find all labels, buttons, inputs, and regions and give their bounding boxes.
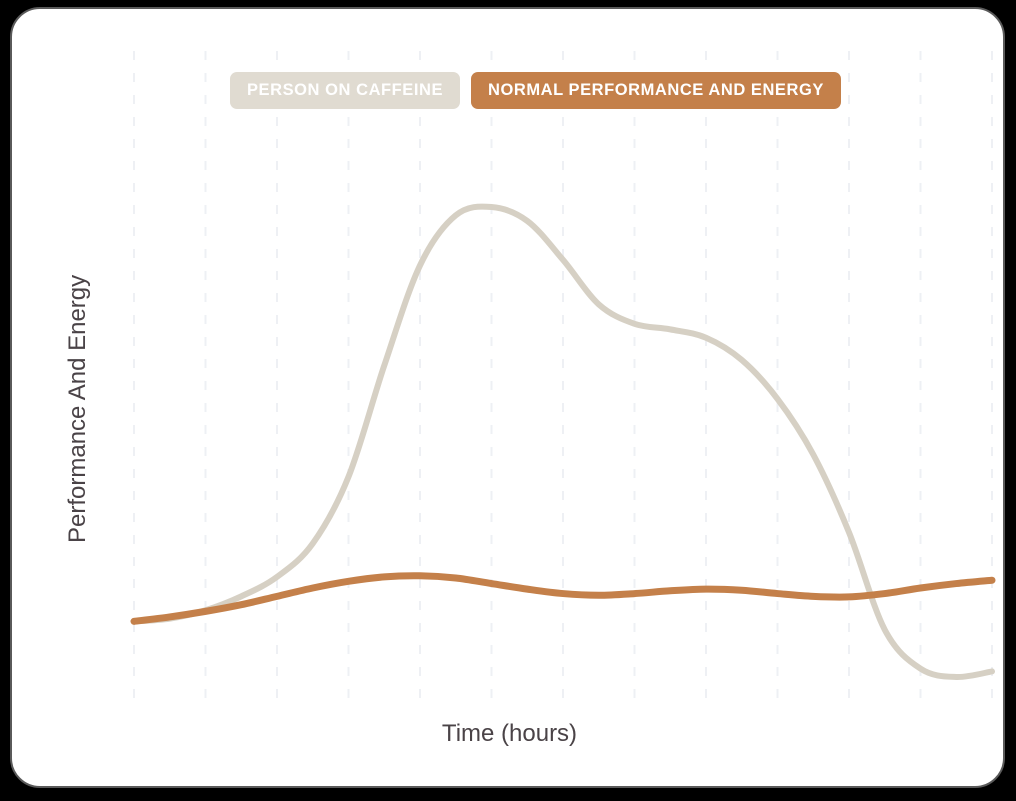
legend-item-label: PERSON ON CAFFEINE: [247, 81, 443, 100]
chart-gridlines: [134, 51, 992, 709]
chart-plot-area: [12, 9, 1003, 786]
legend-item-person-on-caffeine[interactable]: PERSON ON CAFFEINE: [230, 72, 460, 109]
x-axis-label: Time (hours): [12, 720, 1005, 748]
chart-legend: PERSON ON CAFFEINE NORMAL PERFORMANCE AN…: [230, 72, 841, 109]
legend-item-label: NORMAL PERFORMANCE AND ENERGY: [488, 81, 824, 100]
chart-card: PERSON ON CAFFEINE NORMAL PERFORMANCE AN…: [10, 7, 1005, 788]
chart-svg: [12, 9, 1005, 788]
y-axis-label: Performance And Energy: [64, 283, 92, 543]
screenshot-root: PERSON ON CAFFEINE NORMAL PERFORMANCE AN…: [0, 0, 1016, 801]
legend-item-normal-performance[interactable]: NORMAL PERFORMANCE AND ENERGY: [471, 72, 841, 109]
